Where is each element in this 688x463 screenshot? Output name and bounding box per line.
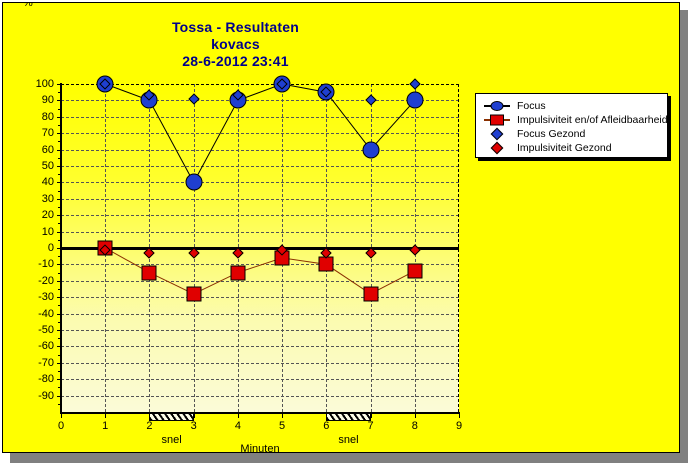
x-axis-tick bbox=[371, 413, 372, 418]
data-point-marker bbox=[362, 141, 379, 158]
x-axis-tick-label: 6 bbox=[323, 420, 329, 432]
y-axis-tick-label: 0 bbox=[48, 243, 54, 253]
y-axis-tick-label: -70 bbox=[38, 358, 54, 368]
y-axis-tick-label: -30 bbox=[38, 292, 54, 302]
legend-item-label: Focus Gezond bbox=[517, 128, 585, 140]
y-axis-tick-label: -90 bbox=[38, 391, 54, 401]
y-axis-tick-label: 60 bbox=[42, 145, 54, 155]
y-axis-tick-label: 40 bbox=[42, 177, 54, 187]
data-point-marker bbox=[319, 257, 334, 272]
data-point-marker bbox=[230, 265, 245, 280]
chart-legend: FocusImpulsiviteit en/of AfleidbaarheidF… bbox=[475, 93, 668, 158]
data-point-marker bbox=[407, 263, 422, 278]
x-axis-tick bbox=[194, 413, 195, 418]
x-axis-tick-label: 9 bbox=[456, 420, 462, 432]
x-axis-tick bbox=[459, 413, 460, 418]
data-point-marker bbox=[406, 92, 423, 109]
legend-marker bbox=[482, 99, 512, 113]
legend-item-label: Focus bbox=[517, 100, 546, 112]
chart-title-line-2: kovacs bbox=[3, 36, 468, 53]
x-axis-tick bbox=[415, 413, 416, 418]
chart-title-line-1: Tossa - Resultaten bbox=[3, 19, 468, 36]
y-axis-tick-label: 90 bbox=[42, 95, 54, 105]
snel-band bbox=[149, 413, 193, 421]
y-axis-tick-label: -50 bbox=[38, 325, 54, 335]
data-point-marker bbox=[142, 265, 157, 280]
y-axis-tick-label: 80 bbox=[42, 112, 54, 122]
x-axis-tick-label: 5 bbox=[279, 420, 285, 432]
legend-symbol bbox=[491, 101, 504, 111]
chart-window: Tossa - Resultaten kovacs 28-6-2012 23:4… bbox=[2, 2, 680, 453]
x-axis-tick-label: 2 bbox=[146, 420, 152, 432]
data-point-marker bbox=[363, 286, 378, 301]
legend-item-label: Impulsiviteit en/of Afleidbaarheid bbox=[517, 114, 668, 126]
legend-item: Focus bbox=[476, 99, 667, 113]
x-axis-tick bbox=[105, 413, 106, 418]
snel-band bbox=[326, 413, 370, 421]
y-axis-title: % bbox=[23, 2, 33, 9]
legend-marker bbox=[482, 127, 512, 141]
y-axis-tick-label: 100 bbox=[36, 79, 54, 89]
legend-item-label: Impulsiviteit Gezond bbox=[517, 142, 612, 154]
x-axis-tick bbox=[61, 413, 62, 418]
x-axis-tick-label: 0 bbox=[58, 420, 64, 432]
y-axis-tick-label: 70 bbox=[42, 128, 54, 138]
x-axis-tick bbox=[238, 413, 239, 418]
y-axis-tick-label: 10 bbox=[42, 227, 54, 237]
x-axis-tick bbox=[282, 413, 283, 418]
y-axis-tick-label: 50 bbox=[42, 161, 54, 171]
data-point-marker bbox=[185, 174, 202, 191]
x-axis-tick-label: 1 bbox=[102, 420, 108, 432]
chart-title-line-3: 28-6-2012 23:41 bbox=[3, 53, 468, 70]
series-line-layer bbox=[61, 84, 459, 412]
x-axis-tick-label: 3 bbox=[191, 420, 197, 432]
legend-symbol bbox=[491, 142, 504, 155]
legend-symbol bbox=[491, 128, 504, 141]
y-axis-tick-label: -80 bbox=[38, 374, 54, 384]
x-axis-tick-label: 8 bbox=[412, 420, 418, 432]
data-point-marker bbox=[186, 286, 201, 301]
x-axis-title: Minuten bbox=[61, 443, 459, 453]
chart-window-root: Tossa - Resultaten kovacs 28-6-2012 23:4… bbox=[0, 0, 688, 463]
legend-marker bbox=[482, 141, 512, 155]
y-axis-tick-label: -60 bbox=[38, 341, 54, 351]
y-axis-tick-label: 30 bbox=[42, 194, 54, 204]
y-axis-tick-label: 20 bbox=[42, 210, 54, 220]
legend-item: Impulsiviteit Gezond bbox=[476, 141, 667, 155]
x-axis-line bbox=[60, 412, 460, 414]
legend-item: Focus Gezond bbox=[476, 127, 667, 141]
legend-marker bbox=[482, 113, 512, 127]
legend-symbol bbox=[490, 115, 504, 126]
y-axis-tick-label: -20 bbox=[38, 276, 54, 286]
chart-title-block: Tossa - Resultaten kovacs 28-6-2012 23:4… bbox=[3, 19, 468, 70]
plot-area: 1009080706050403020100-10-20-30-40-50-60… bbox=[61, 84, 459, 412]
x-axis-tick-label: 4 bbox=[235, 420, 241, 432]
legend-item: Impulsiviteit en/of Afleidbaarheid bbox=[476, 113, 667, 127]
y-axis-tick-label: -40 bbox=[38, 309, 54, 319]
y-axis-tick-label: -10 bbox=[38, 259, 54, 269]
x-axis-tick-label: 7 bbox=[367, 420, 373, 432]
